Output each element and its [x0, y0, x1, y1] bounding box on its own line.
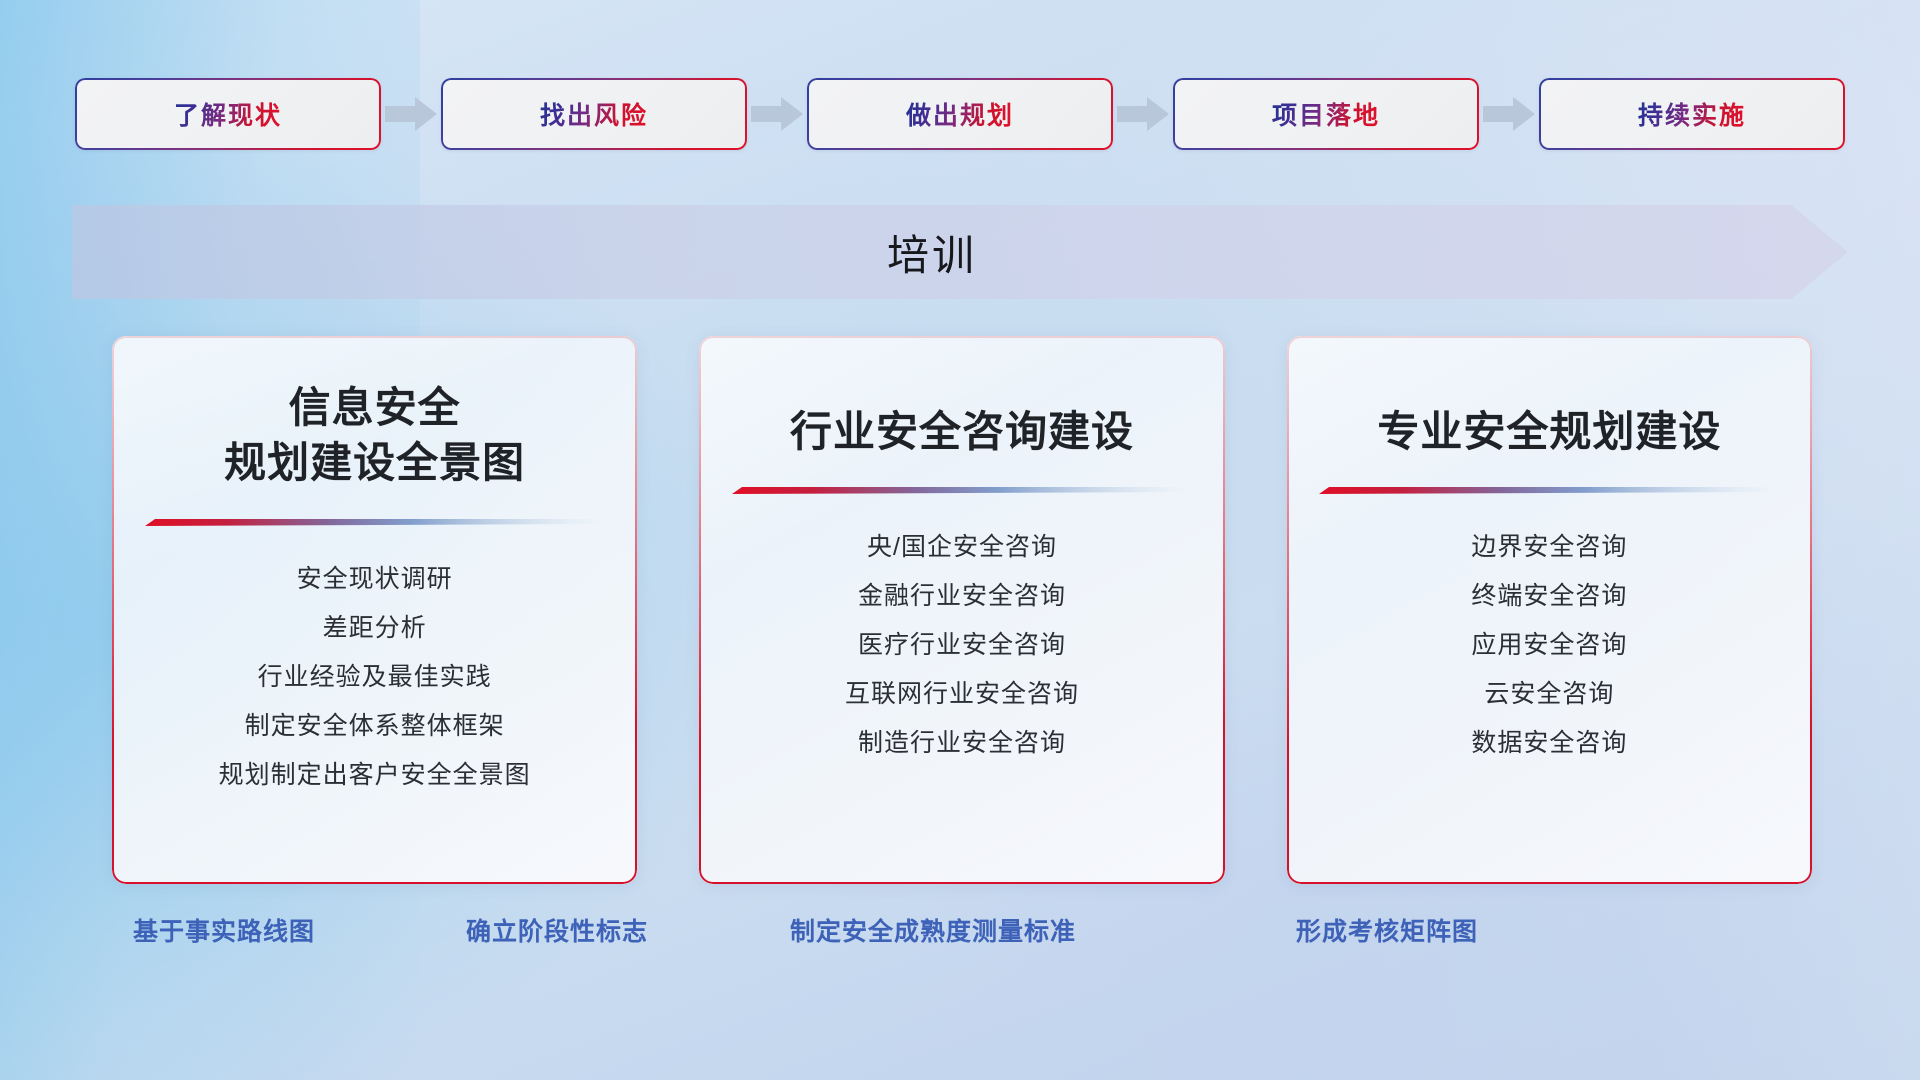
- process-step-4-label: 项目落地: [1272, 96, 1380, 132]
- card-title: 行业安全咨询建设: [790, 404, 1134, 459]
- arrow-right-icon: [1113, 78, 1173, 150]
- card-industry-security-consulting[interactable]: 行业安全咨询建设: [699, 336, 1224, 884]
- training-banner: 培训: [72, 205, 1848, 299]
- list-item: 制造行业安全咨询: [699, 719, 1224, 768]
- card-title-line-2: 规划建设全景图: [224, 435, 525, 490]
- slide-stage: 了解现状 找出风险 做出规划 项目落地: [0, 0, 1920, 1080]
- footer-label-maturity-standard: 制定安全成熟度测量标准: [790, 912, 1076, 948]
- card-title-line-1: 信息安全: [224, 380, 525, 435]
- footer-label-milestones: 确立阶段性标志: [466, 912, 648, 948]
- process-step-3-label: 做出规划: [906, 96, 1014, 132]
- card-title-line-1: 专业安全规划建设: [1377, 404, 1721, 459]
- card-title-divider: [1319, 485, 1779, 497]
- training-banner-label: 培训: [72, 205, 1848, 299]
- process-step-2-label: 找出风险: [540, 96, 648, 132]
- list-item: 规划制定出客户安全全景图: [112, 751, 637, 800]
- card-item-list: 央/国企安全咨询 金融行业安全咨询 医疗行业安全咨询 互联网行业安全咨询 制造行…: [699, 523, 1224, 768]
- card-title-divider: [732, 485, 1192, 497]
- footer-label-row: 基于事实路线图 确立阶段性标志 制定安全成熟度测量标准 形成考核矩阵图: [0, 912, 1920, 960]
- process-step-2[interactable]: 找出风险: [441, 78, 747, 150]
- list-item: 医疗行业安全咨询: [699, 621, 1224, 670]
- footer-label-assessment-matrix: 形成考核矩阵图: [1296, 912, 1478, 948]
- process-step-row: 了解现状 找出风险 做出规划 项目落地: [75, 78, 1845, 150]
- process-step-1-label: 了解现状: [174, 96, 282, 132]
- list-item: 央/国企安全咨询: [699, 523, 1224, 572]
- card-title: 信息安全 规划建设全景图: [224, 380, 525, 491]
- card-row: 信息安全 规划建设全景图: [112, 336, 1812, 884]
- list-item: 安全现状调研: [112, 555, 637, 604]
- process-step-3[interactable]: 做出规划: [807, 78, 1113, 150]
- list-item: 差距分析: [112, 604, 637, 653]
- list-item: 行业经验及最佳实践: [112, 653, 637, 702]
- card-title-line-1: 行业安全咨询建设: [790, 404, 1134, 459]
- card-item-list: 安全现状调研 差距分析 行业经验及最佳实践 制定安全体系整体框架 规划制定出客户…: [112, 555, 637, 800]
- card-title-divider: [145, 517, 605, 529]
- list-item: 制定安全体系整体框架: [112, 702, 637, 751]
- list-item: 金融行业安全咨询: [699, 572, 1224, 621]
- card-title: 专业安全规划建设: [1377, 404, 1721, 459]
- list-item: 云安全咨询: [1287, 670, 1812, 719]
- list-item: 互联网行业安全咨询: [699, 670, 1224, 719]
- list-item: 数据安全咨询: [1287, 719, 1812, 768]
- card-information-security-panorama[interactable]: 信息安全 规划建设全景图: [112, 336, 637, 884]
- list-item: 应用安全咨询: [1287, 621, 1812, 670]
- card-professional-security-planning[interactable]: 专业安全规划建设: [1287, 336, 1812, 884]
- card-item-list: 边界安全咨询 终端安全咨询 应用安全咨询 云安全咨询 数据安全咨询: [1287, 523, 1812, 768]
- footer-label-roadmap: 基于事实路线图: [133, 912, 315, 948]
- process-step-1[interactable]: 了解现状: [75, 78, 381, 150]
- arrow-right-icon: [747, 78, 807, 150]
- process-step-5-label: 持续实施: [1638, 96, 1746, 132]
- list-item: 边界安全咨询: [1287, 523, 1812, 572]
- process-step-4[interactable]: 项目落地: [1173, 78, 1479, 150]
- arrow-right-icon: [381, 78, 441, 150]
- process-step-5[interactable]: 持续实施: [1539, 78, 1845, 150]
- list-item: 终端安全咨询: [1287, 572, 1812, 621]
- arrow-right-icon: [1479, 78, 1539, 150]
